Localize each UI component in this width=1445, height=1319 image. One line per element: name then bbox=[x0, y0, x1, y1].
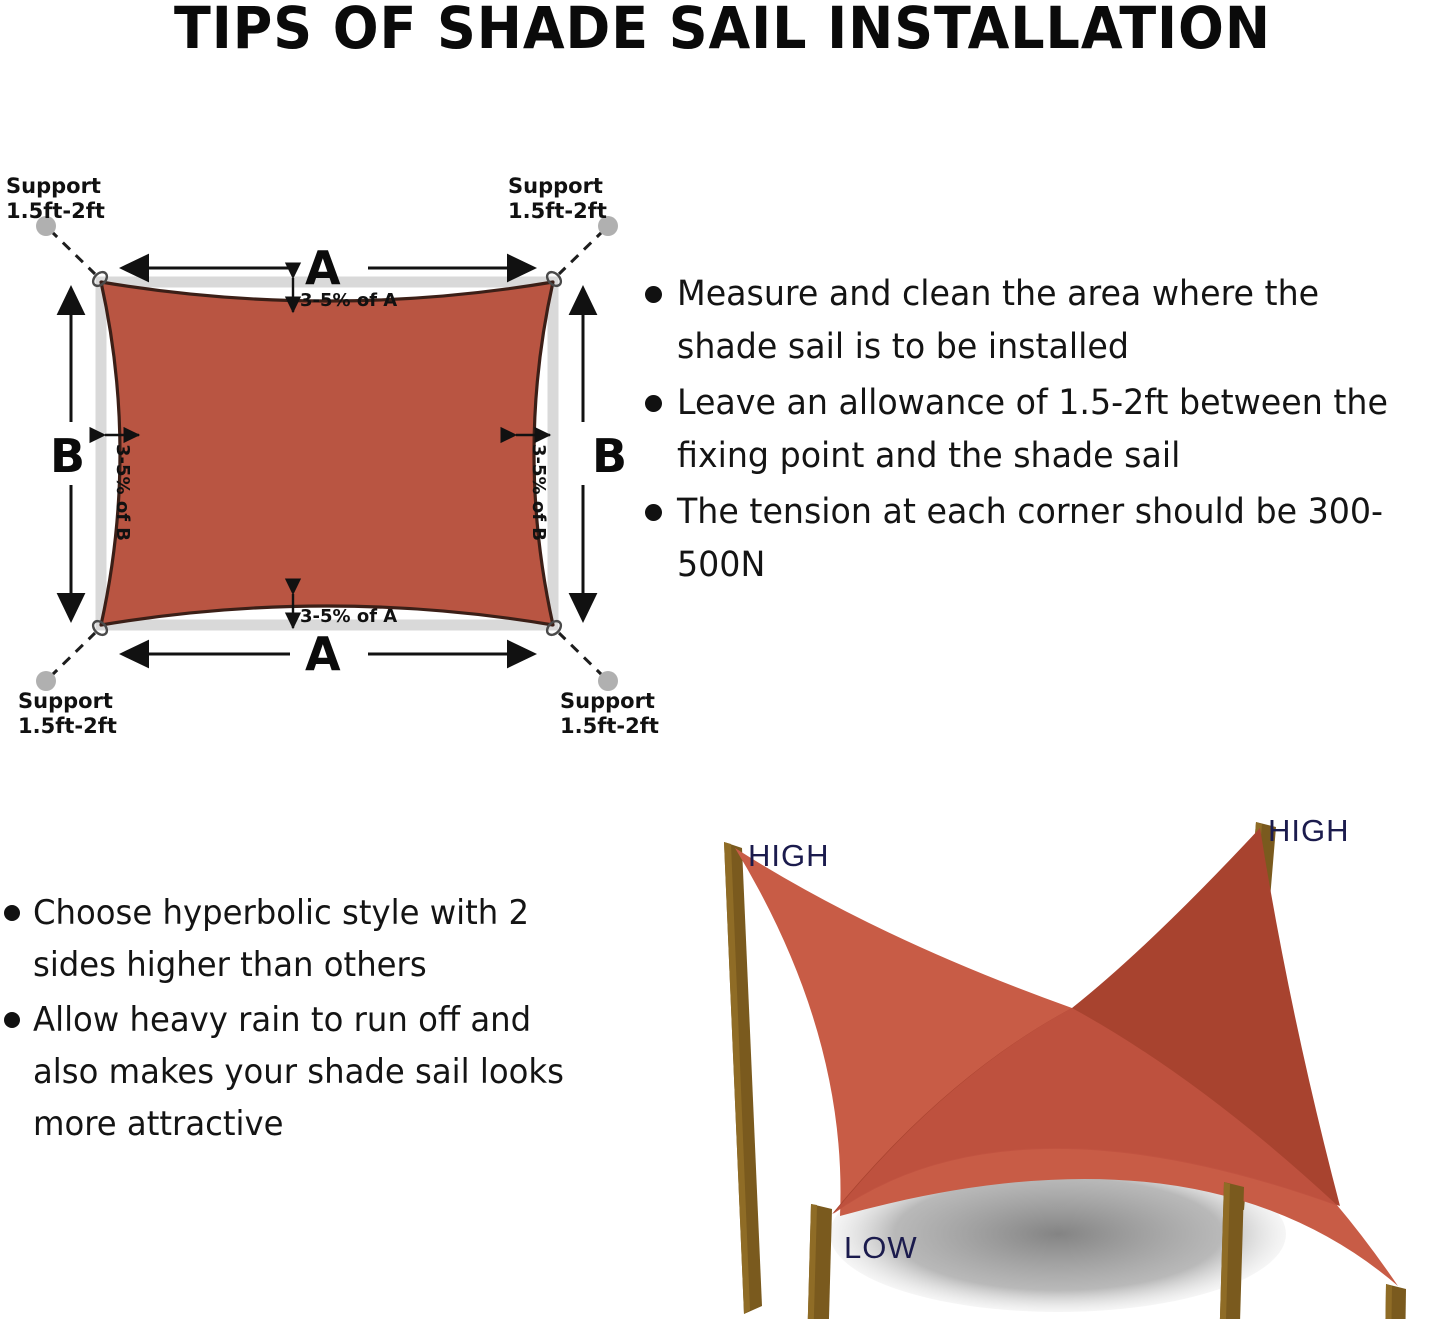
tip-text: Leave an allowance of 1.5-2ft between th… bbox=[677, 377, 1407, 482]
page-title: TIPS OF SHADE SAIL INSTALLATION bbox=[51, 0, 1395, 59]
curvature-text: 3-5% of A bbox=[300, 606, 397, 627]
dimension-b-left: B bbox=[50, 288, 85, 620]
curvature-callout-left: 3-5% of B bbox=[105, 435, 139, 541]
list-item: Measure and clean the area where the sha… bbox=[645, 268, 1445, 373]
bullet-icon bbox=[4, 1012, 20, 1028]
list-item: Leave an allowance of 1.5-2ft between th… bbox=[645, 377, 1445, 482]
bullet-icon bbox=[645, 395, 662, 412]
bullet-icon bbox=[645, 504, 662, 521]
support-value-text: 1.5ft-2ft bbox=[560, 714, 659, 738]
dimension-b-right: B bbox=[583, 288, 627, 620]
shade-sail-shape bbox=[101, 282, 553, 625]
bullet-icon bbox=[645, 286, 662, 303]
dimension-a-bottom: A bbox=[122, 627, 534, 681]
hyperbolic-style-tips-list: Choose hyperbolic style with 2 sides hig… bbox=[4, 888, 624, 1154]
label-low-right: LOW bbox=[1298, 1314, 1372, 1319]
support-value-text: 1.5ft-2ft bbox=[18, 714, 117, 738]
tip-text: Choose hyperbolic style with 2 sides hig… bbox=[33, 888, 594, 991]
support-label-text: Support bbox=[560, 689, 655, 713]
hyperbolic-sail-diagram: HIGH HIGH LOW LOW bbox=[680, 786, 1440, 1319]
support-value-text: 1.5ft-2ft bbox=[6, 199, 105, 223]
tip-text: Allow heavy rain to run off and also mak… bbox=[33, 995, 594, 1150]
support-label-text: Support bbox=[508, 174, 603, 198]
dimension-letter: B bbox=[50, 429, 85, 483]
support-label-top-right: Support 1.5ft-2ft bbox=[508, 174, 607, 223]
support-label-text: Support bbox=[6, 174, 101, 198]
bullet-icon bbox=[4, 905, 20, 921]
label-low-left: LOW bbox=[844, 1230, 918, 1265]
tip-text: The tension at each corner should be 300… bbox=[677, 486, 1407, 591]
dimension-letter: A bbox=[305, 241, 341, 295]
dimension-letter: A bbox=[305, 627, 341, 681]
curvature-text: 3-5% of A bbox=[300, 290, 397, 311]
curvature-text: 3-5% of B bbox=[112, 444, 133, 541]
support-label-bottom-right: Support 1.5ft-2ft bbox=[560, 689, 659, 738]
support-value-text: 1.5ft-2ft bbox=[508, 199, 607, 223]
label-high-right: HIGH bbox=[1268, 813, 1350, 848]
installation-tips-list: Measure and clean the area where the sha… bbox=[645, 268, 1445, 595]
tip-text: Measure and clean the area where the sha… bbox=[677, 268, 1407, 373]
support-label-top-left: Support 1.5ft-2ft bbox=[6, 174, 105, 223]
support-label-text: Support bbox=[18, 689, 113, 713]
curvature-text: 3-5% of B bbox=[528, 444, 549, 541]
rect-sail-diagram: Support 1.5ft-2ft Support 1.5ft-2ft Supp… bbox=[0, 160, 660, 740]
dimension-letter: B bbox=[592, 429, 627, 483]
label-high-left: HIGH bbox=[748, 838, 830, 873]
support-label-bottom-left: Support 1.5ft-2ft bbox=[18, 689, 117, 738]
list-item: The tension at each corner should be 300… bbox=[645, 486, 1445, 591]
list-item: Choose hyperbolic style with 2 sides hig… bbox=[4, 888, 624, 991]
list-item: Allow heavy rain to run off and also mak… bbox=[4, 995, 624, 1150]
